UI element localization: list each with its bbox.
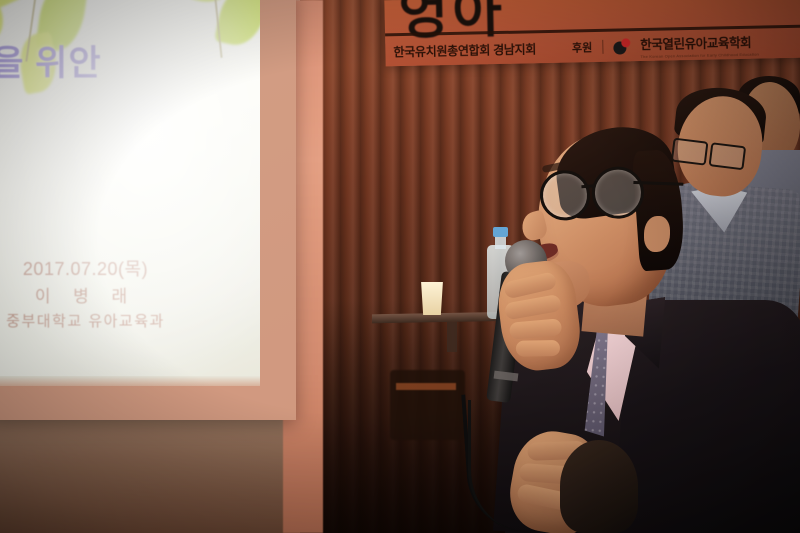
banner-organizer: 한국유치원총연합회 경남지회 (393, 40, 536, 60)
banner-sponsor-subtitle: The Korean Open Association for Early Ch… (640, 51, 759, 58)
banner-sponsor-label: 후원 (572, 39, 593, 55)
table-leg (447, 322, 457, 352)
slide-date: 2017.07.20(목) (0, 260, 203, 278)
slide-title: …신을 위안 과제 (0, 38, 222, 140)
banner-vertical-divider (602, 40, 603, 54)
foreground-audience-head (560, 440, 638, 533)
eyeglasses-icon (532, 164, 665, 225)
photo-scene: …신을 위안 과제 2017.07.20(목) 이 병 래 중부대학교 유아교육… (0, 0, 800, 533)
folding-chair (390, 370, 465, 440)
ear (644, 216, 670, 252)
projection-screen-frame: …신을 위안 과제 2017.07.20(목) 이 병 래 중부대학교 유아교육… (0, 0, 296, 420)
projection-screen: …신을 위안 과제 2017.07.20(목) 이 병 래 중부대학교 유아교육… (0, 0, 260, 376)
event-banner: 엉아 한국유치원총연합회 경남지회 후원 한국열린유아교육학회 The Kore… (384, 0, 800, 66)
banner-sponsor-name: 한국열린유아교육학회 (640, 35, 751, 51)
society-logo-icon (613, 38, 630, 55)
slide-presenter-affiliation: 중부대학교 유아교육과 (0, 314, 203, 329)
chair-rail (396, 383, 456, 390)
leaf-decoration (0, 0, 46, 9)
banner-sponsor-block: 한국열린유아교육학회 The Korean Open Association f… (640, 31, 759, 58)
slide-presenter-name: 이 병 래 (0, 288, 203, 305)
screen-bottom-edge (0, 376, 260, 386)
slide-meta-block: 2017.07.20(목) 이 병 래 중부대학교 유아교육과 (0, 260, 203, 329)
paper-cup (419, 282, 445, 315)
